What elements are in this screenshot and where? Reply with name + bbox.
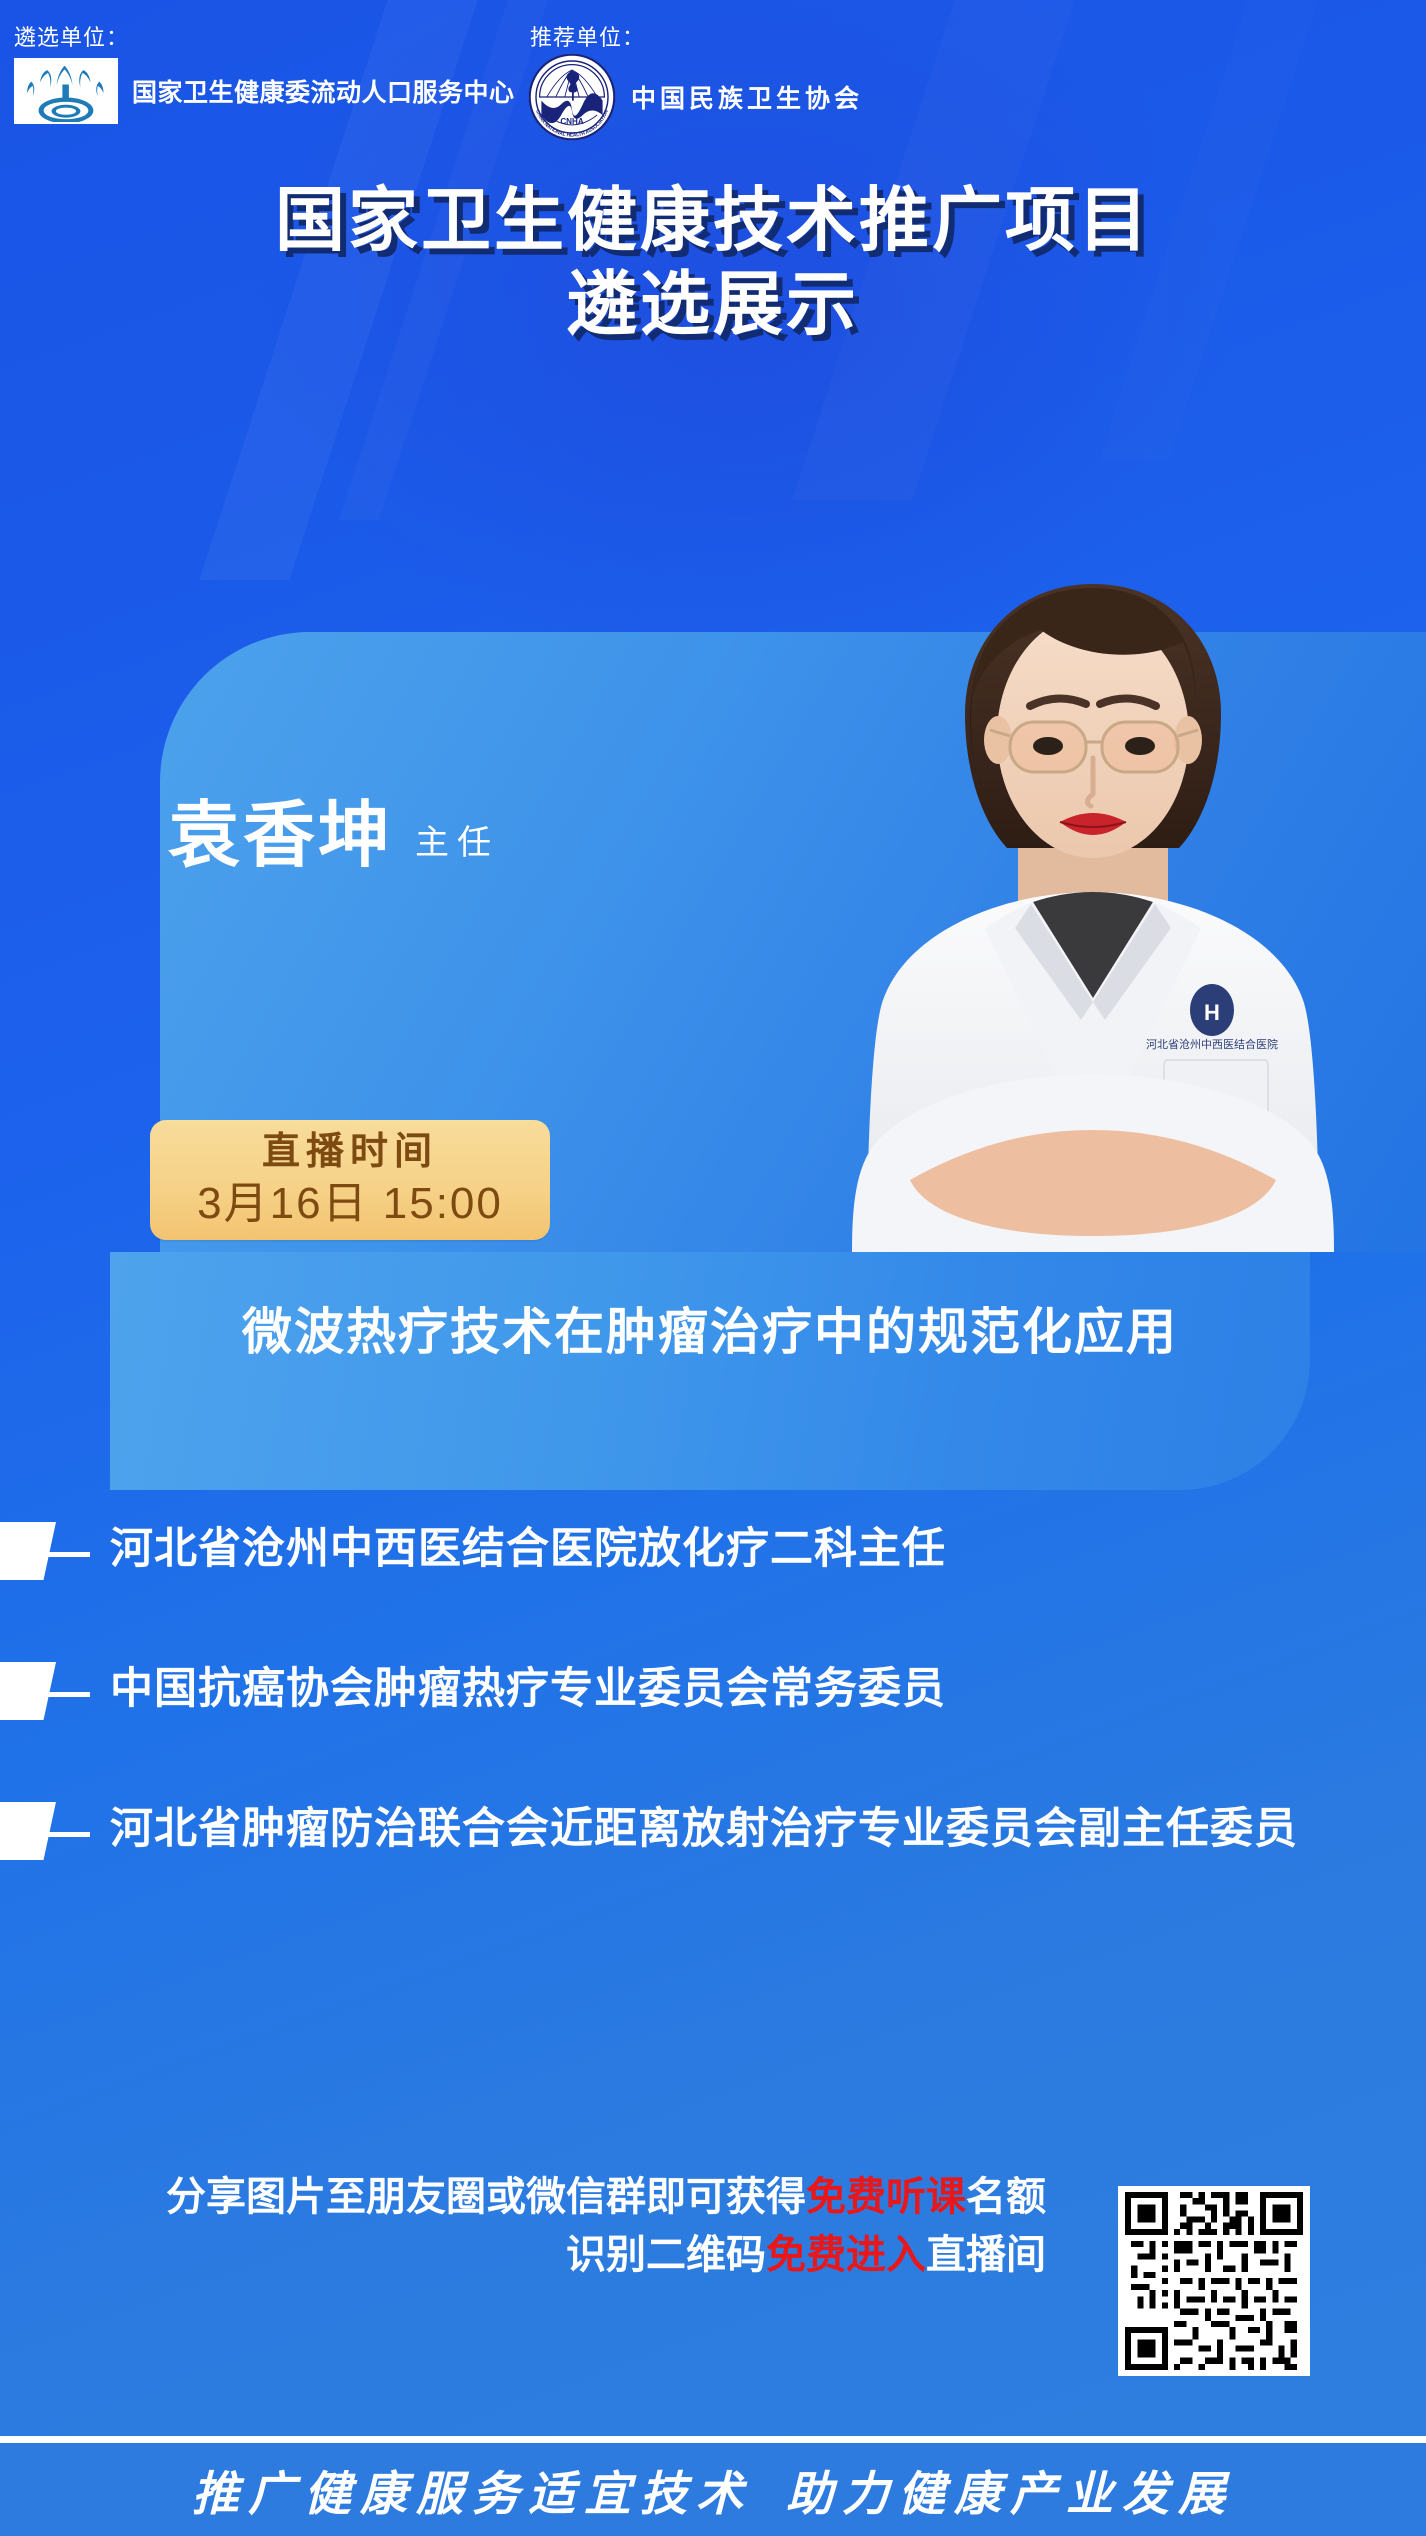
recommending-unit-name: 中国民族卫生协会 (631, 79, 863, 115)
bullet-marker-icon (0, 1802, 110, 1862)
share-line-2-suffix: 直播间 (926, 2233, 1046, 2277)
footer-slogan-left: 推广健康服务适宜技术 (192, 2469, 752, 2521)
share-line-2-highlight: 免费进入 (766, 2233, 926, 2277)
broadcast-time-badge: 直播时间 3月16日 15:00 (150, 1120, 550, 1240)
speaker-name: 袁香坤 (168, 800, 393, 872)
bullet-dash-icon (46, 1692, 90, 1697)
share-line-1-prefix: 分享图片至朋友圈或微信群即可获得 (166, 2175, 806, 2219)
bullet-parallelogram-icon (0, 1662, 56, 1720)
footer-slogan-band: 推广健康服务适宜技术助力健康产业发展 (0, 2443, 1426, 2536)
footer-slogan-right: 助力健康产业发展 (786, 2469, 1234, 2521)
recommending-unit-row: CNHA CHINA NATIONAL HEALTH ASSOCIATION 中… (527, 52, 863, 142)
topic-title: 微波热疗技术在肿瘤治疗中的规范化应用 (110, 1292, 1310, 1364)
qr-code-icon[interactable] (1118, 2186, 1310, 2376)
bullet-parallelogram-icon (0, 1802, 56, 1860)
bullet-parallelogram-icon (0, 1522, 56, 1580)
cnha-emblem-icon: CNHA CHINA NATIONAL HEALTH ASSOCIATION (527, 52, 617, 142)
share-line-2-prefix: 识别二维码 (566, 2233, 766, 2277)
bullet-dash-icon (46, 1552, 90, 1557)
page-title-line-1: 国家卫生健康技术推广项目 (275, 181, 1151, 259)
credential-item: 河北省沧州中西医结合医院放化疗二科主任 (0, 1522, 1426, 1582)
page-title: 国家卫生健康技术推广项目 遴选展示 (0, 178, 1426, 346)
credential-item: 中国抗癌协会肿瘤热疗专业委员会常务委员 (0, 1662, 1426, 1722)
selecting-unit-name: 国家卫生健康委流动人口服务中心 (132, 73, 515, 109)
speaker-title: 主任 (415, 815, 499, 864)
broadcast-time-label: 直播时间 (150, 1120, 550, 1176)
bullet-dash-icon (46, 1832, 90, 1837)
selecting-unit-label: 遴选单位： (14, 20, 129, 52)
credential-item: 河北省肿瘤防治联合会近距离放射治疗专业委员会副主任委员 (0, 1802, 1426, 1862)
fountain-logo-icon (14, 58, 118, 124)
footer-divider (0, 2436, 1426, 2443)
recommending-unit-label: 推荐单位： (530, 20, 645, 52)
broadcast-time-value: 3月16日 15:00 (150, 1176, 550, 1232)
credential-text: 中国抗癌协会肿瘤热疗专业委员会常务委员 (110, 1662, 946, 1716)
selecting-unit-row: 国家卫生健康委流动人口服务中心 (14, 58, 515, 124)
share-line-1-suffix: 名额 (966, 2175, 1046, 2219)
topic-panel: 微波热疗技术在肿瘤治疗中的规范化应用 (110, 1252, 1310, 1490)
poster-canvas: 遴选单位： 推荐单位： 国家卫生健康委流动人口服务中心 (0, 0, 1426, 2536)
share-line-1-highlight: 免费听课 (806, 2175, 966, 2219)
credential-text: 河北省沧州中西医结合医院放化疗二科主任 (110, 1522, 946, 1576)
credential-text: 河北省肿瘤防治联合会近距离放射治疗专业委员会副主任委员 (110, 1802, 1298, 1856)
speaker-name-block: 袁香坤 主任 (168, 800, 499, 872)
svg-text:河北省沧州中西医结合医院: 河北省沧州中西医结合医院 (1146, 1037, 1278, 1051)
page-title-line-2: 遴选展示 (0, 262, 1426, 346)
footer-slogan: 推广健康服务适宜技术助力健康产业发展 (192, 2455, 1234, 2524)
bullet-marker-icon (0, 1662, 110, 1722)
doctor-portrait: H 河北省沧州中西医结合医院 (760, 540, 1426, 1252)
svg-text:H: H (1204, 1000, 1220, 1025)
bullet-marker-icon (0, 1522, 110, 1582)
